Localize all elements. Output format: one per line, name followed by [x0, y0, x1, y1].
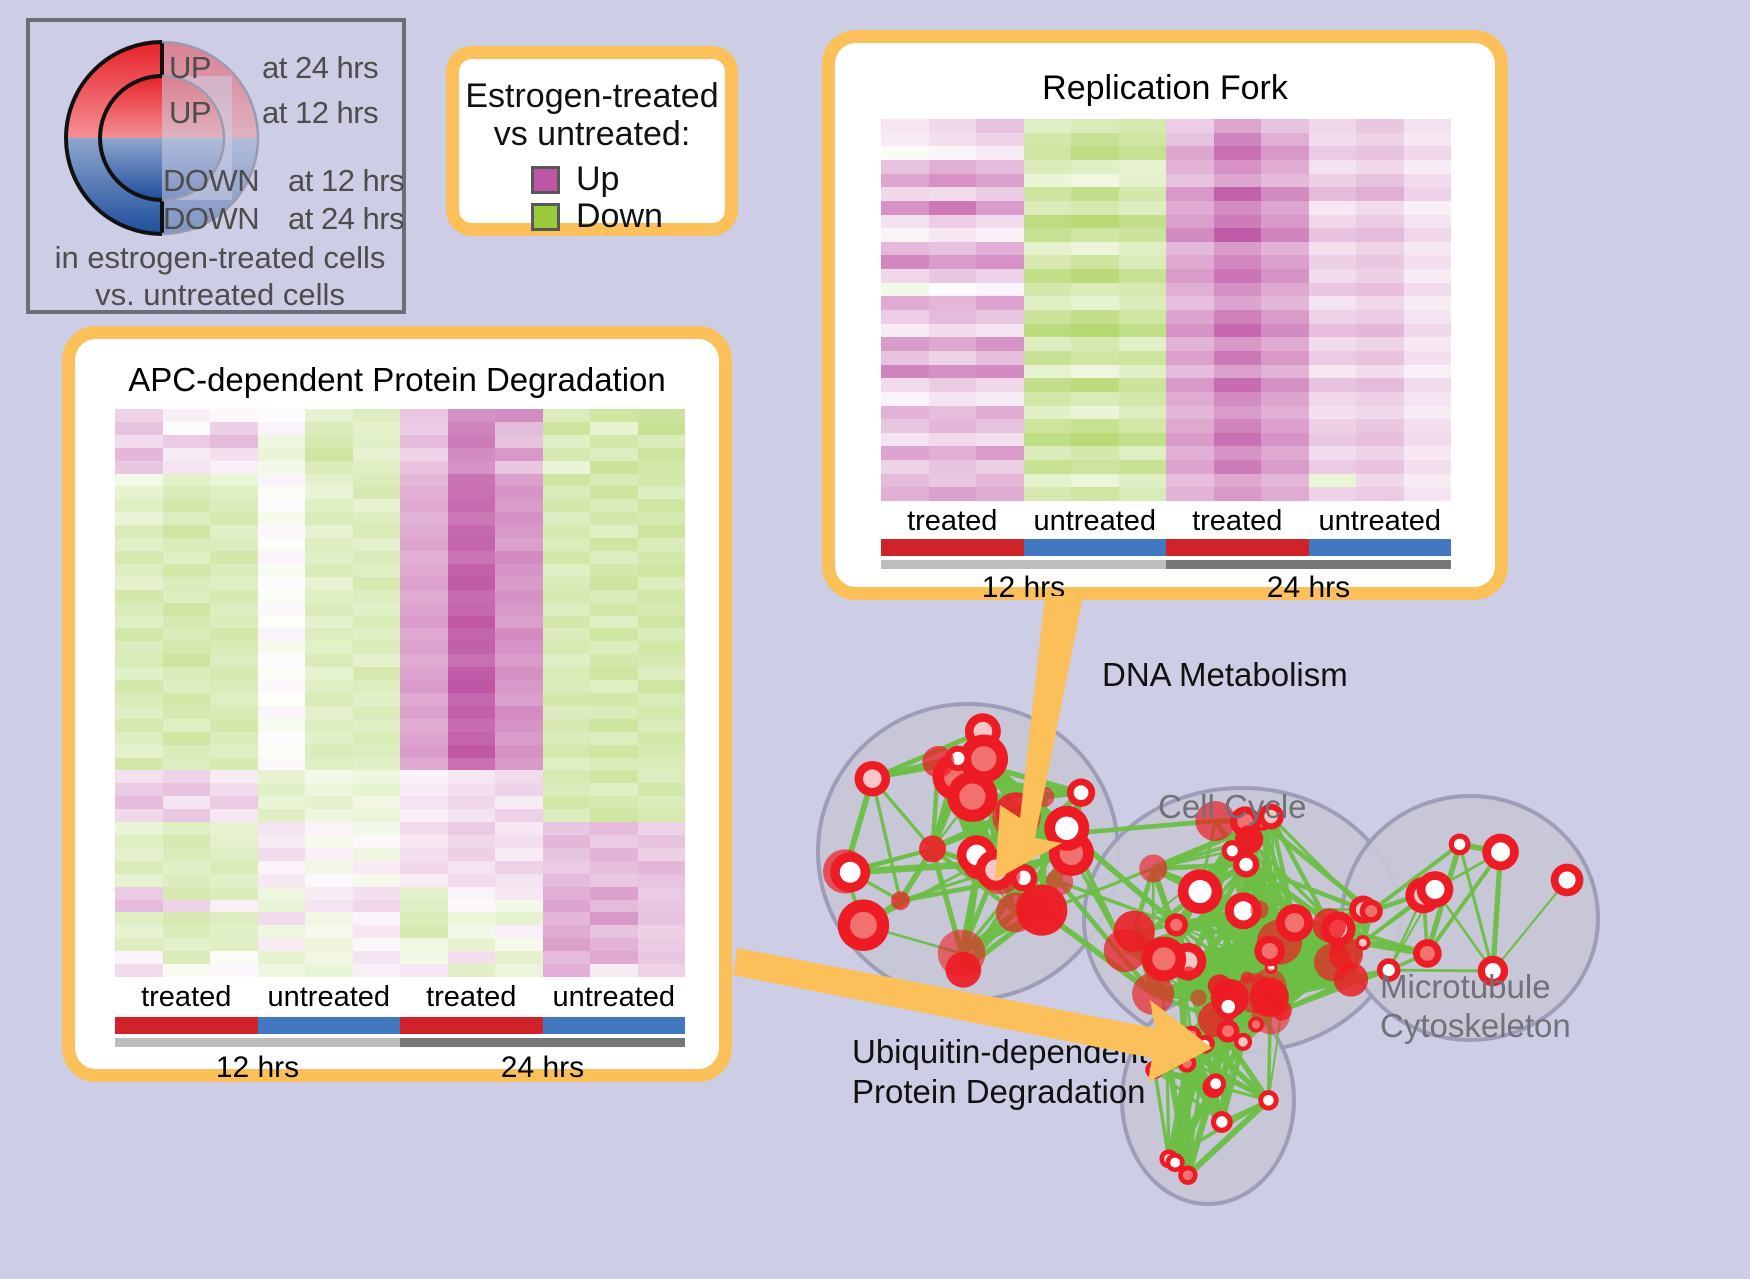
heatmap-cell: [448, 435, 496, 448]
heatmap-cell: [929, 337, 977, 351]
heatmap-cell: [590, 770, 638, 783]
heatmap-cell: [163, 577, 211, 590]
heatmap-cell: [590, 667, 638, 680]
heatmap-cell: [976, 187, 1024, 201]
heatmap-cell: [495, 925, 543, 938]
heatmap-cell: [1309, 269, 1357, 283]
heatmap-cell: [1214, 474, 1262, 488]
network-node: [1139, 854, 1167, 882]
heatmap-cell: [115, 796, 163, 809]
heatmap-cell: [1166, 378, 1214, 392]
heatmap-cell: [1214, 392, 1262, 406]
heatmap-cell: [1071, 351, 1119, 365]
heatmap-cell: [1309, 296, 1357, 310]
heatmap-cell: [1261, 174, 1309, 188]
heatmap-cell: [1261, 419, 1309, 433]
heatmap-cell: [448, 603, 496, 616]
heatmap-cell: [305, 628, 353, 641]
heatmap-cell: [448, 693, 496, 706]
heatmap-cell: [1404, 160, 1452, 174]
wheel-row-0-label: UP: [169, 50, 211, 86]
heatmap-cell: [590, 758, 638, 771]
heatmap-cell: [1356, 269, 1404, 283]
heatmap-cell: [1071, 160, 1119, 174]
wheel-row-2-time: at 12 hrs: [288, 163, 404, 199]
network-node: [1251, 901, 1269, 919]
apc-time-bar: [115, 1038, 685, 1047]
heatmap-cell: [115, 900, 163, 913]
heatmap-cell: [400, 964, 448, 977]
heatmap-cell: [448, 732, 496, 745]
heatmap-cell: [163, 964, 211, 977]
heatmap-cell: [353, 667, 401, 680]
heatmap-cell: [258, 874, 306, 887]
heatmap-cell: [976, 487, 1024, 501]
heatmap-cell: [305, 486, 353, 499]
heatmap-cell: [210, 628, 258, 641]
heatmap-cell: [1071, 146, 1119, 160]
heatmap-cell: [115, 577, 163, 590]
heatmap-cell: [163, 770, 211, 783]
heatmap-cell: [1309, 215, 1357, 229]
heatmap-cell: [1071, 324, 1119, 338]
heatmap-cell: [258, 887, 306, 900]
network-node-core: [1221, 1000, 1235, 1014]
heatmap-cell: [543, 706, 591, 719]
network-diagram: DNA Metabolism Cell Cycle Microtubule Cy…: [790, 620, 1750, 1279]
heatmap-cell: [543, 525, 591, 538]
heatmap-cell: [1309, 187, 1357, 201]
heatmap-cell: [638, 628, 686, 641]
heatmap-cell: [976, 174, 1024, 188]
heatmap-cell: [258, 564, 306, 577]
heatmap-cell: [881, 310, 929, 324]
heatmap-cell: [353, 486, 401, 499]
heatmap-cell: [638, 964, 686, 977]
wheel-row-1-label: UP: [169, 95, 211, 131]
heatmap-cell: [1356, 433, 1404, 447]
heatmap-legend-items: Up Down: [531, 161, 663, 235]
heatmap-cell: [1214, 337, 1262, 351]
heatmap-cell: [1119, 392, 1167, 406]
heatmap-cell: [163, 590, 211, 603]
heatmap-cell: [210, 822, 258, 835]
heatmap-cell: [638, 590, 686, 603]
heatmap-cell: [258, 912, 306, 925]
heatmap-cell: [976, 255, 1024, 269]
heatmap-cell: [1261, 378, 1309, 392]
heatmap-cell: [543, 551, 591, 564]
heatmap-cell: [448, 564, 496, 577]
heatmap-cell: [305, 693, 353, 706]
time-bar-24: [1166, 560, 1451, 569]
heatmap-cell: [976, 365, 1024, 379]
apc-heatmap: [115, 409, 685, 977]
heatmap-cell: [163, 422, 211, 435]
heatmap-cell: [495, 693, 543, 706]
heatmap-cell: [543, 409, 591, 422]
heatmap-cell: [258, 835, 306, 848]
heatmap-cell: [1404, 337, 1452, 351]
network-node-core: [1420, 946, 1435, 961]
heatmap-cell: [353, 603, 401, 616]
heatmap-cell: [590, 538, 638, 551]
heatmap-cell: [1119, 474, 1167, 488]
heatmap-cell: [590, 422, 638, 435]
heatmap-cell: [400, 499, 448, 512]
heatmap-cell: [638, 616, 686, 629]
heatmap-cell: [1261, 460, 1309, 474]
heatmap-cell: [210, 951, 258, 964]
heatmap-cell: [543, 887, 591, 900]
heatmap-cell: [210, 861, 258, 874]
heatmap-cell: [1261, 160, 1309, 174]
heatmap-cell: [1309, 351, 1357, 365]
heatmap-cell: [353, 499, 401, 512]
heatmap-cell: [258, 693, 306, 706]
heatmap-cell: [115, 499, 163, 512]
heatmap-cell: [543, 564, 591, 577]
heatmap-cell: [115, 964, 163, 977]
heatmap-cell: [115, 448, 163, 461]
heatmap-cell: [495, 512, 543, 525]
heatmap-cell: [258, 551, 306, 564]
heatmap-cell: [210, 603, 258, 616]
heatmap-cell: [1404, 324, 1452, 338]
heatmap-cell: [1071, 228, 1119, 242]
heatmap-cell: [400, 745, 448, 758]
heatmap-cell: [163, 706, 211, 719]
heatmap-cell: [1166, 460, 1214, 474]
heatmap-cell: [353, 887, 401, 900]
heatmap-cell: [495, 461, 543, 474]
heatmap-cell: [543, 616, 591, 629]
heatmap-cell: [1309, 446, 1357, 460]
heatmap-cell: [1119, 174, 1167, 188]
heatmap-cell: [881, 242, 929, 256]
heatmap-cell: [638, 861, 686, 874]
heatmap-cell: [1309, 119, 1357, 133]
heatmap-cell: [448, 422, 496, 435]
heatmap-cell: [495, 486, 543, 499]
heatmap-cell: [638, 409, 686, 422]
heatmap-cell: [1119, 255, 1167, 269]
network-node-core: [1188, 880, 1211, 903]
heatmap-cell: [1356, 201, 1404, 215]
replication-fork-axis: treated untreated treated untreated 12 h…: [881, 505, 1451, 591]
heatmap-cell: [543, 770, 591, 783]
network-node: [1312, 908, 1346, 942]
heatmap-cell: [590, 900, 638, 913]
heatmap-cell: [1309, 406, 1357, 420]
heatmap-cell: [1214, 228, 1262, 242]
heatmap-cell: [1166, 487, 1214, 501]
heatmap-cell: [881, 419, 929, 433]
heatmap-cell: [495, 719, 543, 732]
heatmap-cell: [448, 783, 496, 796]
heatmap-cell: [543, 499, 591, 512]
heatmap-cell: [115, 745, 163, 758]
heatmap-cell: [543, 758, 591, 771]
heatmap-cell: [400, 822, 448, 835]
heatmap-cell: [590, 577, 638, 590]
heatmap-cell: [448, 409, 496, 422]
heatmap-cell: [1214, 269, 1262, 283]
heatmap-cell: [1356, 446, 1404, 460]
heatmap-cell: [1356, 419, 1404, 433]
heatmap-cell: [1071, 406, 1119, 420]
heatmap-cell: [305, 925, 353, 938]
heatmap-cell: [590, 822, 638, 835]
down-swatch-icon: [531, 203, 560, 231]
heatmap-cell: [590, 745, 638, 758]
heatmap-cell: [543, 938, 591, 951]
heatmap-cell: [305, 732, 353, 745]
heatmap-cell: [1024, 487, 1072, 501]
heatmap-cell: [163, 874, 211, 887]
heatmap-cell: [1119, 310, 1167, 324]
heatmap-cell: [305, 719, 353, 732]
network-node-core: [1234, 901, 1253, 920]
heatmap-cell: [543, 783, 591, 796]
network-node-core: [1186, 1030, 1197, 1041]
heatmap-cell: [543, 590, 591, 603]
heatmap-cell: [976, 392, 1024, 406]
heatmap-cell: [353, 628, 401, 641]
heatmap-cell: [115, 461, 163, 474]
heatmap-cell: [638, 422, 686, 435]
heatmap-cell: [448, 512, 496, 525]
heatmap-cell: [210, 706, 258, 719]
heatmap-cell: [400, 835, 448, 848]
heatmap-cell: [210, 900, 258, 913]
heatmap-cell: [590, 938, 638, 951]
heatmap-cell: [115, 538, 163, 551]
heatmap-cell: [495, 732, 543, 745]
heatmap-cell: [305, 770, 353, 783]
heatmap-cell: [305, 861, 353, 874]
heatmap-cell: [305, 835, 353, 848]
heatmap-cell: [1071, 255, 1119, 269]
heatmap-cell: [1261, 446, 1309, 460]
heatmap-cell: [1119, 296, 1167, 310]
heatmap-cell: [163, 809, 211, 822]
heatmap-cell: [258, 603, 306, 616]
heatmap-cell: [976, 324, 1024, 338]
heatmap-cell: [1166, 119, 1214, 133]
heatmap-cell: [976, 215, 1024, 229]
heatmap-cell: [163, 538, 211, 551]
heatmap-cell: [448, 835, 496, 848]
heatmap-cell: [1024, 446, 1072, 460]
heatmap-cell: [448, 809, 496, 822]
heatmap-cell: [881, 392, 929, 406]
heatmap-cell: [210, 577, 258, 590]
heatmap-cell: [1404, 487, 1452, 501]
heatmap-cell: [929, 269, 977, 283]
heatmap-cell: [210, 461, 258, 474]
heatmap-cell: [1024, 324, 1072, 338]
heatmap-cell: [1166, 133, 1214, 147]
heatmap-cell: [163, 628, 211, 641]
heatmap-cell: [305, 409, 353, 422]
heatmap-cell: [305, 783, 353, 796]
heatmap-cell: [163, 525, 211, 538]
heatmap-cell: [210, 409, 258, 422]
heatmap-cell: [543, 951, 591, 964]
replication-fork-time-bar: [881, 560, 1451, 569]
replication-fork-heatmap: [881, 119, 1451, 501]
network-node-core: [1491, 842, 1510, 861]
heatmap-cell: [543, 912, 591, 925]
heatmap-cell: [495, 667, 543, 680]
heatmap-cell: [115, 564, 163, 577]
heatmap-cell: [495, 822, 543, 835]
heatmap-cell: [495, 616, 543, 629]
heatmap-cell: [638, 538, 686, 551]
network-node-core: [1182, 1058, 1192, 1068]
heatmap-cell: [1071, 433, 1119, 447]
heatmap-cell: [1214, 283, 1262, 297]
heatmap-cell: [258, 770, 306, 783]
network-node-core: [1216, 1116, 1227, 1127]
heatmap-cell: [590, 861, 638, 874]
apc-treatment-bar: [115, 1017, 685, 1034]
heatmap-cell: [929, 242, 977, 256]
heatmap-cell: [495, 758, 543, 771]
heatmap-cell: [495, 887, 543, 900]
heatmap-cell: [258, 758, 306, 771]
heatmap-cell: [638, 512, 686, 525]
heatmap-cell: [258, 590, 306, 603]
heatmap-cell: [210, 732, 258, 745]
heatmap-cell: [976, 160, 1024, 174]
cluster-label-microtubule-cytoskeleton: Microtubule Cytoskeleton: [1380, 968, 1571, 1046]
heatmap-cell: [543, 848, 591, 861]
heatmap-cell: [448, 770, 496, 783]
heatmap-cell: [115, 861, 163, 874]
heatmap-cell: [976, 269, 1024, 283]
heatmap-cell: [353, 912, 401, 925]
heatmap-cell: [400, 925, 448, 938]
heatmap-cell: [1024, 460, 1072, 474]
heatmap-cell: [590, 616, 638, 629]
heatmap-cell: [929, 146, 977, 160]
heatmap-cell: [976, 433, 1024, 447]
heatmap-cell: [115, 758, 163, 771]
heatmap-cell: [1404, 310, 1452, 324]
heatmap-cell: [1166, 242, 1214, 256]
heatmap-cell: [353, 577, 401, 590]
network-node: [922, 746, 954, 778]
heatmap-cell: [258, 861, 306, 874]
heatmap-cell: [163, 693, 211, 706]
heatmap-cell: [258, 680, 306, 693]
heatmap-cell: [1356, 296, 1404, 310]
heatmap-cell: [590, 874, 638, 887]
heatmap-cell: [638, 887, 686, 900]
heatmap-cell: [400, 706, 448, 719]
network-node-core: [1152, 947, 1175, 970]
heatmap-cell: [1024, 474, 1072, 488]
heatmap-cell: [353, 835, 401, 848]
heatmap-cell: [305, 551, 353, 564]
heatmap-cell: [400, 951, 448, 964]
heatmap-cell: [448, 861, 496, 874]
heatmap-cell: [543, 486, 591, 499]
heatmap-cell: [1309, 433, 1357, 447]
heatmap-cell: [353, 770, 401, 783]
heatmap-cell: [1261, 433, 1309, 447]
heatmap-cell: [1214, 296, 1262, 310]
heatmap-cell: [305, 706, 353, 719]
heatmap-cell: [1024, 296, 1072, 310]
heatmap-cell: [115, 719, 163, 732]
heatmap-cell: [258, 900, 306, 913]
apc-time-labels: 12 hrs 24 hrs: [115, 1051, 685, 1085]
heatmap-cell: [976, 228, 1024, 242]
heatmap-cell: [448, 887, 496, 900]
heatmap-cell: [353, 680, 401, 693]
heatmap-cell: [210, 616, 258, 629]
heatmap-cell: [1119, 460, 1167, 474]
heatmap-cell: [1119, 119, 1167, 133]
time-label-24: 24 hrs: [1166, 571, 1451, 605]
heatmap-cell: [638, 461, 686, 474]
network-node: [1190, 990, 1206, 1006]
heatmap-cell: [1071, 201, 1119, 215]
heatmap-cell: [1404, 255, 1452, 269]
heatmap-cell: [353, 590, 401, 603]
heatmap-cell: [1071, 119, 1119, 133]
heatmap-cell: [258, 925, 306, 938]
heatmap-cell: [210, 564, 258, 577]
heatmap-cell: [448, 874, 496, 887]
heatmap-cell: [353, 538, 401, 551]
heatmap-cell: [1214, 433, 1262, 447]
heatmap-cell: [1404, 119, 1452, 133]
heatmap-cell: [163, 474, 211, 487]
heatmap-cell: [163, 448, 211, 461]
group-label-2: treated: [1166, 505, 1309, 538]
heatmap-cell: [353, 551, 401, 564]
heatmap-cell: [1071, 419, 1119, 433]
heatmap-cell: [1166, 446, 1214, 460]
heatmap-cell: [305, 964, 353, 977]
heatmap-cell: [929, 160, 977, 174]
heatmap-cell: [638, 577, 686, 590]
heatmap-cell: [1214, 310, 1262, 324]
network-node: [1034, 787, 1054, 807]
heatmap-cell: [638, 706, 686, 719]
heatmap-cell: [400, 887, 448, 900]
heatmap-cell: [400, 461, 448, 474]
heatmap-cell: [1071, 337, 1119, 351]
heatmap-cell: [543, 628, 591, 641]
heatmap-cell: [638, 486, 686, 499]
heatmap-cell: [1214, 242, 1262, 256]
heatmap-cell: [353, 422, 401, 435]
heatmap-cell: [1404, 406, 1452, 420]
network-node-core: [1425, 880, 1444, 899]
heatmap-cell: [1309, 283, 1357, 297]
heatmap-cell: [590, 796, 638, 809]
heatmap-cell: [210, 874, 258, 887]
heatmap-cell: [448, 964, 496, 977]
network-node-core: [959, 784, 985, 810]
heatmap-cell: [590, 783, 638, 796]
heatmap-cell: [881, 146, 929, 160]
